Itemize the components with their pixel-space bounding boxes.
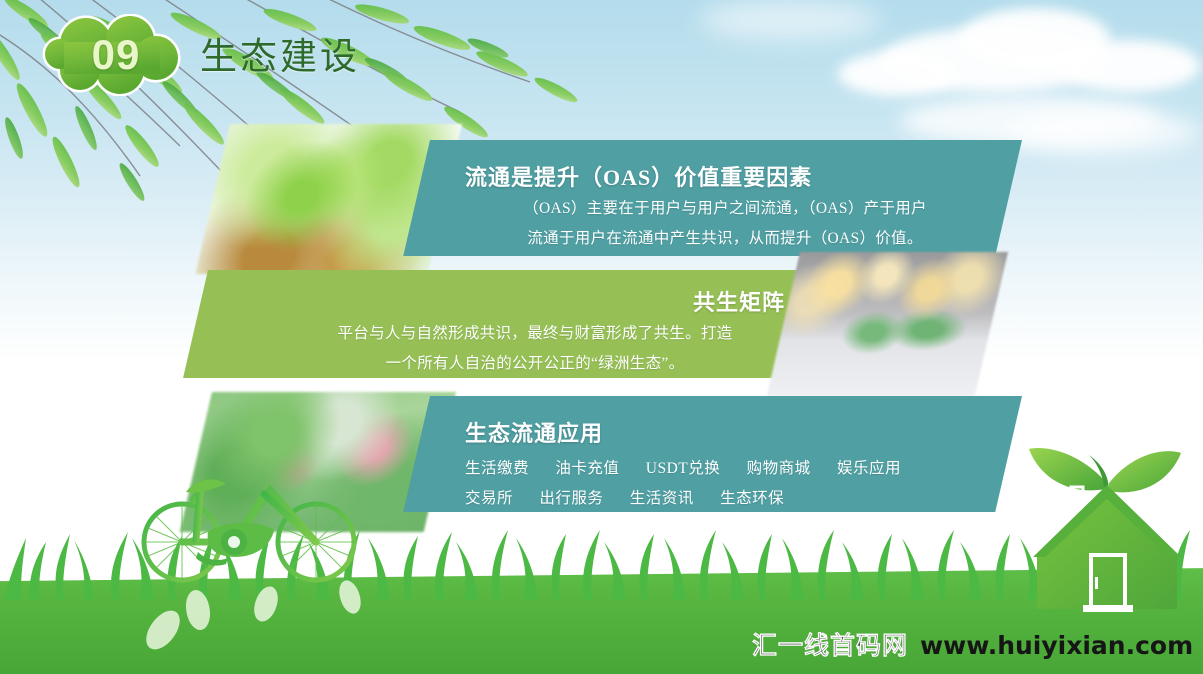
presentation-slide: 09 生态建设 流通是提升（OAS）价值重要因素 （OAS）主要在于用户与用户之… [0, 0, 1203, 674]
watermark-url: www.huiyixian.com [920, 631, 1193, 660]
band-1-body-line-1: （OAS）主要在于用户与用户之间流通，（OAS）产于用户 [465, 195, 985, 222]
band-1-heading: 流通是提升（OAS）价值重要因素 [465, 160, 985, 192]
slide-number-text: 09 [34, 14, 194, 96]
app-item: 购物商城 [747, 460, 811, 477]
app-item: USDT兑换 [646, 460, 720, 477]
band-3-app-list: 生活缴费 油卡充值 USDT兑换 购物商城 娱乐应用 交易所 出行服务 生活资讯… [465, 454, 985, 514]
band-3-app-row-2: 交易所 出行服务 生活资讯 生态环保 [465, 484, 985, 514]
band-2-image [767, 252, 1008, 396]
band-2-body-line-2: 一个所有人自治的公开公正的“绿洲生态”。 [285, 350, 785, 377]
band-3-heading: 生态流通应用 [465, 416, 985, 448]
watermark: 汇一线首码网 www.huiyixian.com [752, 626, 1193, 662]
band-1-body-line-2: 流通于用户在流通中产生共识，从而提升（OAS）价值。 [465, 225, 985, 252]
band-2-text: 共生矩阵 平台与人与自然形成共识，最终与财富形成了共生。打造 一个所有人自治的公… [285, 285, 785, 377]
app-item: 油卡充值 [555, 460, 619, 477]
cloud-shape [838, 52, 958, 96]
band-3-text: 生态流通应用 生活缴费 油卡充值 USDT兑换 购物商城 娱乐应用 交易所 出行… [465, 416, 985, 514]
app-item: 交易所 [465, 490, 513, 507]
page-title: 生态建设 [200, 26, 360, 80]
band-3-app-row-1: 生活缴费 油卡充值 USDT兑换 购物商城 娱乐应用 [465, 454, 985, 484]
band-2-body-line-1: 平台与人与自然形成共识，最终与财富形成了共生。打造 [285, 320, 785, 347]
app-item: 生活资讯 [630, 490, 694, 507]
cloud-shape [700, 0, 880, 40]
app-item: 出行服务 [539, 490, 603, 507]
bicycle-icon [130, 468, 380, 588]
cloud-shape [1060, 40, 1200, 92]
slide-number-badge: 09 [34, 14, 194, 96]
app-item: 娱乐应用 [837, 460, 901, 477]
app-item: 生态环保 [720, 490, 784, 507]
band-2-heading: 共生矩阵 [285, 285, 785, 317]
band-1-text: 流通是提升（OAS）价值重要因素 （OAS）主要在于用户与用户之间流通，（OAS… [465, 160, 985, 252]
eco-house-icon [1019, 439, 1189, 614]
watermark-brand: 汇一线首码网 [752, 626, 908, 662]
app-item: 生活缴费 [465, 460, 529, 477]
cloud-shape [1010, 110, 1200, 154]
